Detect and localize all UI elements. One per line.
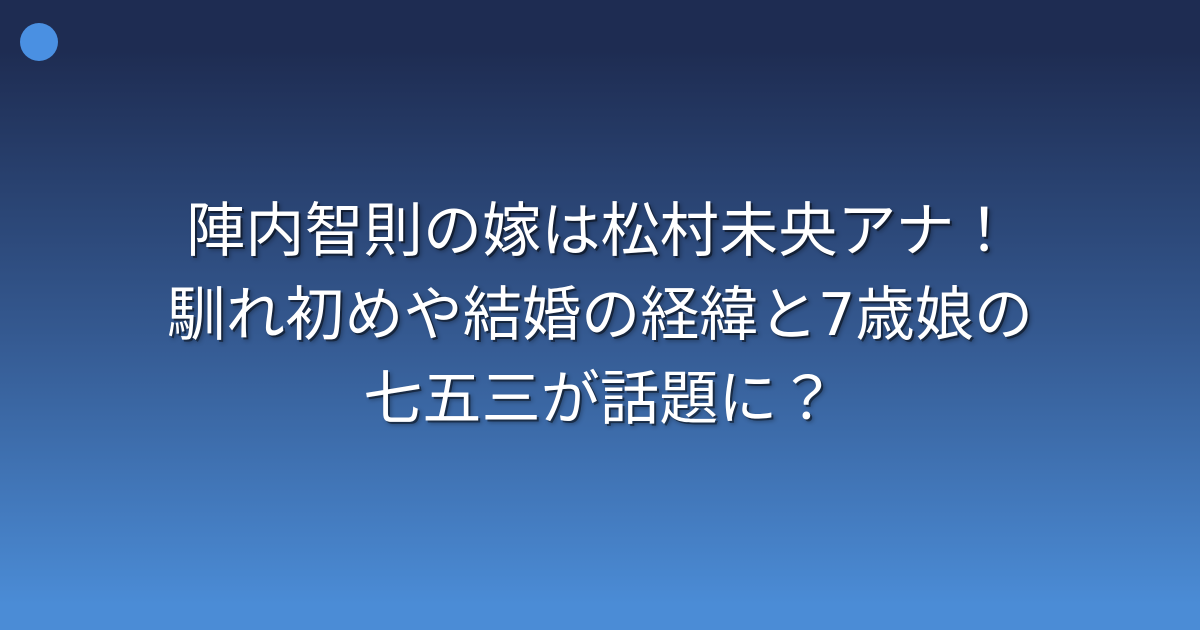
og-image-card: 陣内智則の嫁は松村未央アナ！ 馴れ初めや結婚の経緯と7歳娘の 七五三が話題に？ (0, 0, 1200, 630)
page-title: 陣内智則の嫁は松村未央アナ！ 馴れ初めや結婚の経緯と7歳娘の 七五三が話題に？ (48, 189, 1152, 440)
title-container: 陣内智則の嫁は松村未央アナ！ 馴れ初めや結婚の経緯と7歳娘の 七五三が話題に？ (0, 0, 1200, 630)
